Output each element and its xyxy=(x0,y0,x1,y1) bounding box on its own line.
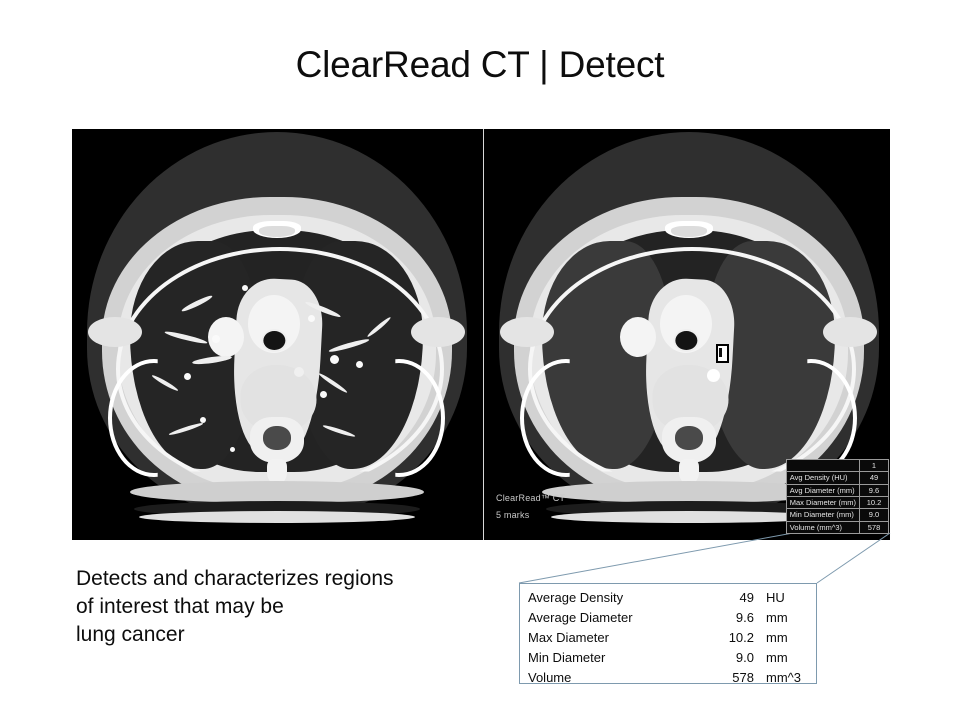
sternum xyxy=(253,221,301,238)
measurement-callout-box: Average Density 49 HU Average Diameter 9… xyxy=(519,583,817,684)
table-row: Avg Diameter (mm) 9.6 xyxy=(786,484,888,496)
detected-lung-nodule[interactable] xyxy=(707,369,720,382)
row-value: 9.0 xyxy=(860,509,889,521)
callout-label: Min Diameter xyxy=(528,648,605,668)
vessel-cross-section xyxy=(356,361,363,368)
leader-line-left xyxy=(519,533,793,583)
header-column-1: 1 xyxy=(860,459,889,471)
callout-value: 9.6 xyxy=(724,608,754,628)
callout-content: Average Density 49 HU Average Diameter 9… xyxy=(528,588,810,688)
vessel-cross-section xyxy=(212,335,220,343)
original-ct-image[interactable] xyxy=(72,129,481,540)
callout-unit: mm xyxy=(766,608,788,628)
table-row: Volume (mm^3) 578 xyxy=(786,521,888,533)
embedded-measurement-table[interactable]: 1 Avg Density (HU) 49 Avg Diameter (mm) … xyxy=(786,459,889,534)
row-label: Max Diameter (mm) xyxy=(786,496,859,508)
row-value: 578 xyxy=(860,521,889,533)
row-value: 9.6 xyxy=(860,484,889,496)
vessel-cross-section xyxy=(200,417,206,423)
table-row: Avg Density (HU) 49 xyxy=(786,472,888,484)
page-title: ClearRead CT | Detect xyxy=(0,44,960,86)
callout-unit: mm^3 xyxy=(766,668,801,688)
callout-row: Min Diameter 9.0 mm xyxy=(528,648,810,668)
watermark-marks: 5 marks xyxy=(496,507,565,524)
watermark-product: ClearRead™ CT xyxy=(496,490,565,507)
vessel-cross-section xyxy=(184,373,191,380)
caption-line-1: Detects and characterizes regions xyxy=(76,565,456,593)
caption-line-2: of interest that may be xyxy=(76,593,456,621)
callout-row: Average Density 49 HU xyxy=(528,588,810,608)
row-label: Min Diameter (mm) xyxy=(786,509,859,521)
vessel-cross-section xyxy=(330,355,339,364)
lung-nodule xyxy=(294,367,304,377)
row-label: Volume (mm^3) xyxy=(786,521,859,533)
posterior-soft-tissue-band xyxy=(130,481,424,503)
caption-line-3: lung cancer xyxy=(76,621,456,649)
scanner-table-band xyxy=(139,511,415,523)
scapula-right xyxy=(411,317,465,347)
callout-row: Average Diameter 9.6 mm xyxy=(528,608,810,628)
rib-cage-arc xyxy=(116,247,444,491)
rib-cage-arc xyxy=(528,247,856,491)
vessel-cross-section xyxy=(320,391,327,398)
scapula-left xyxy=(88,317,142,347)
sternum xyxy=(665,221,713,238)
table-header-row: 1 xyxy=(786,459,888,471)
callout-value: 10.2 xyxy=(724,628,754,648)
clearread-watermark: ClearRead™ CT 5 marks xyxy=(496,490,565,524)
callout-value: 578 xyxy=(724,668,754,688)
row-value: 10.2 xyxy=(860,496,889,508)
slide-caption: Detects and characterizes regions of int… xyxy=(76,565,456,649)
image-divider xyxy=(483,129,484,540)
callout-label: Average Density xyxy=(528,588,623,608)
callout-unit: HU xyxy=(766,588,785,608)
callout-unit: mm xyxy=(766,648,788,668)
callout-label: Volume xyxy=(528,668,571,688)
processed-ct-image[interactable]: ClearRead™ CT 5 marks 1 Avg Density (HU)… xyxy=(484,129,890,540)
callout-unit: mm xyxy=(766,628,788,648)
row-label: Avg Diameter (mm) xyxy=(786,484,859,496)
callout-label: Max Diameter xyxy=(528,628,609,648)
scapula-left xyxy=(500,317,554,347)
callout-row: Max Diameter 10.2 mm xyxy=(528,628,810,648)
ct-image-panel: ClearRead™ CT 5 marks 1 Avg Density (HU)… xyxy=(72,129,890,540)
vessel-cross-section xyxy=(242,285,248,291)
callout-value: 9.0 xyxy=(724,648,754,668)
table-row: Min Diameter (mm) 9.0 xyxy=(786,509,888,521)
vessel-cross-section xyxy=(230,447,235,452)
callout-value: 49 xyxy=(724,588,754,608)
table-row: Max Diameter (mm) 10.2 xyxy=(786,496,888,508)
scapula-right xyxy=(823,317,877,347)
callout-row: Volume 578 mm^3 xyxy=(528,668,810,688)
row-value: 49 xyxy=(860,472,889,484)
leader-line-right xyxy=(817,533,890,583)
callout-label: Average Diameter xyxy=(528,608,633,628)
vessel-cross-section xyxy=(308,315,315,322)
header-blank xyxy=(786,459,859,471)
row-label: Avg Density (HU) xyxy=(786,472,859,484)
detection-marker-icon[interactable] xyxy=(716,344,729,363)
